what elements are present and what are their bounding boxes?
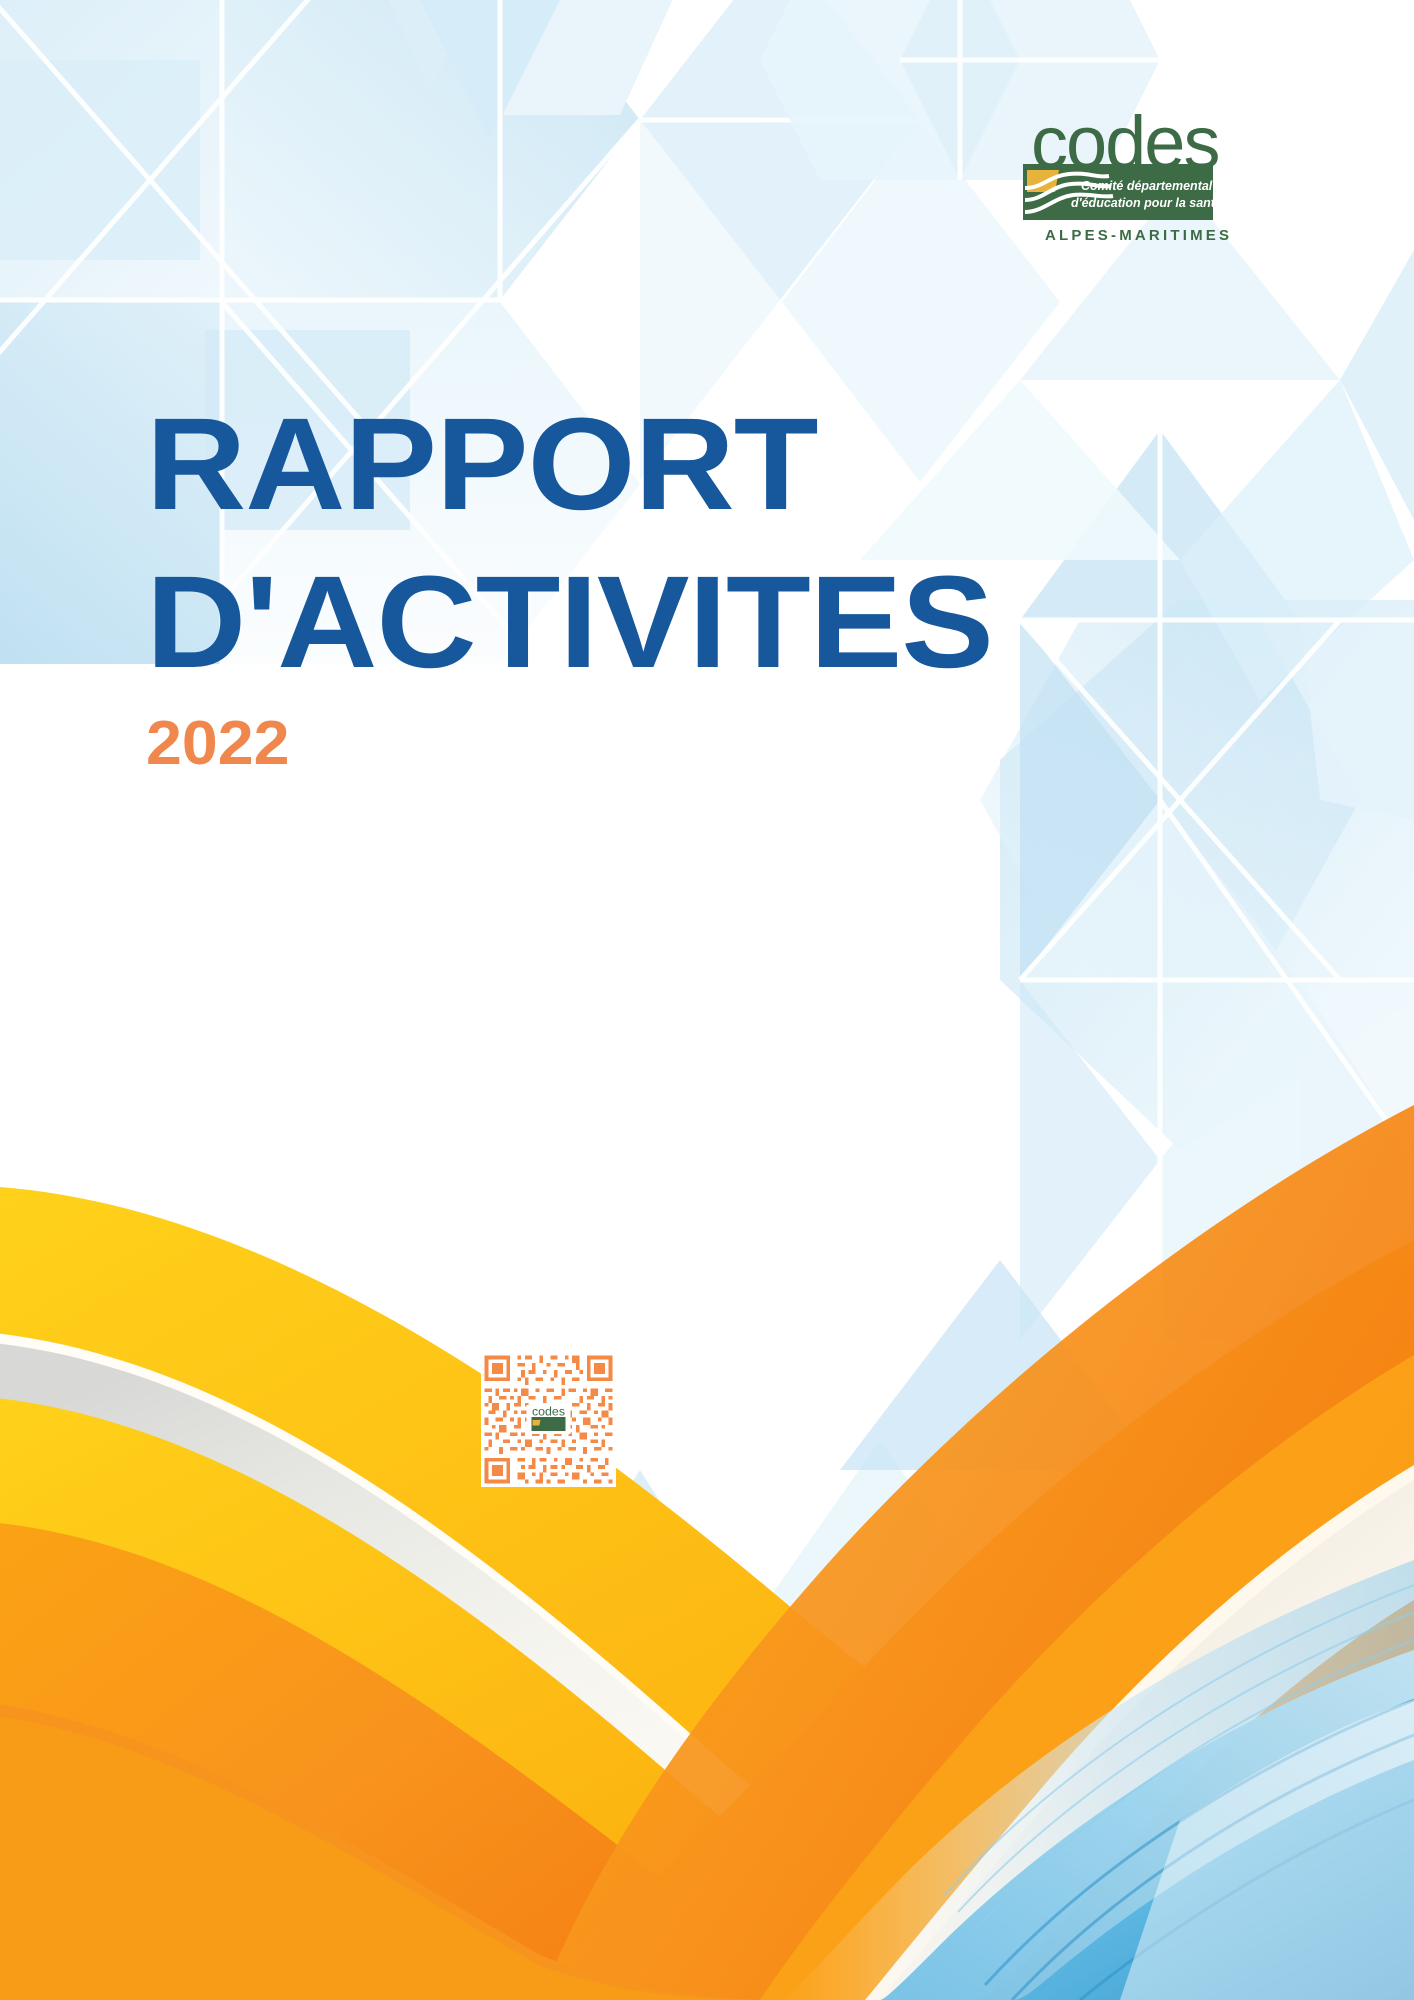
logo-wordmark: codes: [1031, 101, 1218, 184]
bottom-wave-decoration: [0, 0, 1414, 2000]
logo-tagline-line-2: d'éducation pour la santé: [1071, 196, 1222, 210]
logo-region: ALPES-MARITIMES: [1045, 227, 1232, 244]
cover-page: codes Comité départemental d'éducation p…: [0, 0, 1414, 2000]
page-title-line-1: RAPPORT: [146, 400, 1015, 528]
qr-center-logo-text: codes: [532, 1404, 565, 1418]
cover-title-block: RAPPORT D'ACTIVITES 2022: [146, 400, 966, 775]
page-title-line-2: D'ACTIVITES: [146, 558, 1015, 686]
report-year: 2022: [146, 713, 999, 775]
codes-logo: codes Comité départemental d'éducation p…: [985, 88, 1253, 248]
qr-code[interactable]: codes: [481, 1352, 616, 1487]
logo-tagline-line-1: Comité départemental: [1081, 179, 1213, 193]
